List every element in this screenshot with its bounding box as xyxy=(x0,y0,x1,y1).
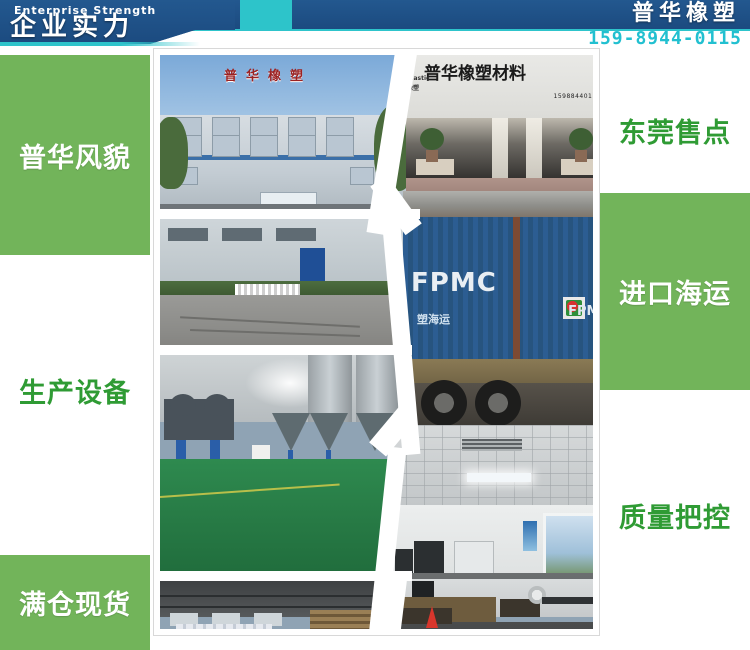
page-header: Enterprise Strength 企业实力 普华橡塑 159-8944-0… xyxy=(0,0,750,46)
window xyxy=(288,117,316,136)
window xyxy=(212,135,240,157)
window xyxy=(288,135,316,157)
photo-office-desk-area xyxy=(392,579,593,629)
guard-fence xyxy=(235,284,300,295)
wall-panel xyxy=(222,228,262,241)
wall-panel xyxy=(276,228,316,241)
pillar xyxy=(526,118,542,182)
photo-factory-gate xyxy=(160,217,410,357)
label-block-full-stock: 满仓现货 xyxy=(0,555,150,650)
label-text: 进口海运 xyxy=(619,272,731,311)
material-hopper xyxy=(310,413,348,451)
truck-wheel xyxy=(475,380,521,426)
photo-collage-stage: 普华橡塑 普华橡塑材料 Plastic 橡塑 15988440115 xyxy=(160,55,593,629)
window xyxy=(250,135,278,157)
monitor xyxy=(412,581,434,597)
window xyxy=(350,167,374,185)
container-seam xyxy=(513,217,520,361)
plant-pot xyxy=(426,150,438,162)
label-text: 质量把控 xyxy=(619,496,731,535)
label-block-production-equipment: 生产设备 xyxy=(0,330,150,450)
photo-import-container: FPMC 塑海运 FPMC xyxy=(403,191,593,431)
background-road xyxy=(403,191,593,220)
photo-collage-frame: 普华橡塑 普华橡塑材料 Plastic 橡塑 15988440115 xyxy=(153,48,600,636)
wall-panel xyxy=(168,228,208,241)
header-wedge-edge xyxy=(0,42,200,46)
epoxy-floor xyxy=(160,459,410,583)
container-brand-text: FPMC xyxy=(411,268,497,298)
potted-plant xyxy=(420,128,444,150)
container-subtext: 塑海运 xyxy=(417,311,450,327)
truck-wheel xyxy=(421,380,467,426)
label-text: 普华风貌 xyxy=(19,136,131,175)
label-text: 生产设备 xyxy=(19,371,131,410)
window xyxy=(212,117,240,136)
label-block-company-profile: 普华风貌 xyxy=(0,55,150,255)
label-text: 满仓现货 xyxy=(19,583,131,622)
potted-plant xyxy=(569,128,593,150)
window xyxy=(326,135,354,157)
ceiling-vent xyxy=(462,439,522,451)
header-accent-block xyxy=(240,0,292,29)
plant-pot xyxy=(575,150,587,162)
photo-production-equipment xyxy=(160,353,410,583)
ceiling-lamp xyxy=(467,473,531,482)
shipping-line-text: FPMC xyxy=(568,304,593,319)
tree xyxy=(160,117,188,189)
silo-tank xyxy=(308,353,352,422)
silo-tank xyxy=(356,353,398,422)
divider-horizontal-3 xyxy=(160,571,412,581)
label-block-dongguan-outlet: 东莞售点 xyxy=(600,70,750,190)
shop-telephone: 15988440115 xyxy=(554,93,594,100)
wood-pallet-stack xyxy=(310,610,372,629)
wall-poster xyxy=(523,521,537,551)
stacked-goods xyxy=(176,624,272,629)
lab-window xyxy=(543,513,593,581)
brand-name: 普华橡塑 xyxy=(632,2,740,26)
label-block-import-shipping: 进口海运 xyxy=(600,193,750,390)
label-block-quality-control: 质量把控 xyxy=(600,450,750,580)
page-title: 企业实力 xyxy=(10,14,134,40)
window xyxy=(326,117,354,136)
label-text: 东莞售点 xyxy=(619,111,731,150)
rooftop-sign-text: 普华橡塑 xyxy=(224,65,312,84)
photo-dongguan-shopfront: 普华橡塑材料 Plastic 橡塑 15988440115 xyxy=(406,55,593,195)
wall-shelf xyxy=(542,597,593,604)
pillar xyxy=(492,118,508,182)
divider-horizontal-2 xyxy=(160,345,412,355)
poster-root: Enterprise Strength 企业实力 普华橡塑 159-8944-0… xyxy=(0,0,750,650)
contact-phone: 159-8944-0115 xyxy=(588,29,742,49)
material-hopper xyxy=(272,413,310,451)
shop-sign-text: 普华橡塑材料 xyxy=(424,59,526,84)
safety-cone xyxy=(426,606,438,628)
window xyxy=(250,117,278,136)
